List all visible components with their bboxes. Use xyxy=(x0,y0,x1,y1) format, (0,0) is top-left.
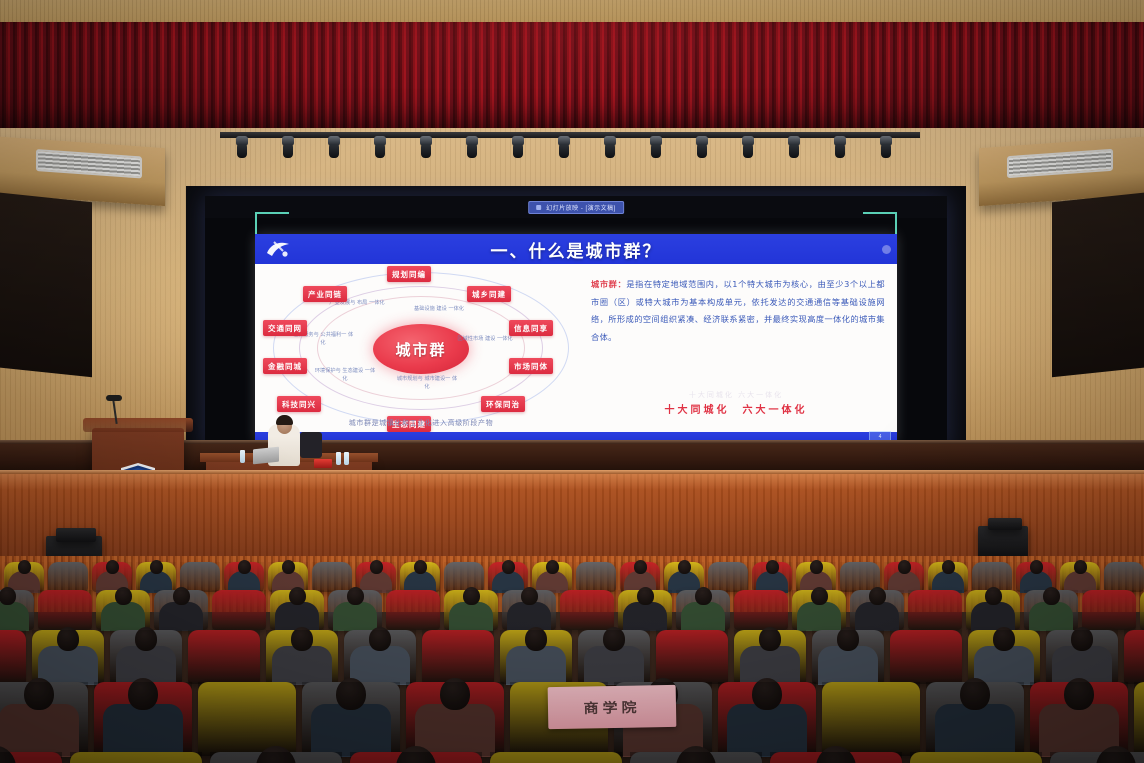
audience-member-head xyxy=(752,678,782,710)
audience-member-head xyxy=(837,627,859,651)
audience-member-head xyxy=(1071,627,1093,651)
stage-lamp-icon xyxy=(788,136,800,158)
audience-member-head xyxy=(502,560,515,574)
audience-member-head xyxy=(24,678,54,710)
diagram-inner-label: 基础设施 建设 一体化 xyxy=(407,306,471,314)
audience-seat xyxy=(212,590,266,630)
audience-member-body xyxy=(623,602,667,631)
powerpoint-icon xyxy=(536,205,541,210)
audience-seat xyxy=(708,562,748,592)
stage-monitor-speaker-top xyxy=(56,528,96,542)
audience-seat xyxy=(734,590,788,630)
audience-member-body xyxy=(971,602,1015,631)
slide-title: 一、什么是城市群？ xyxy=(491,237,662,262)
audience-member-body xyxy=(818,646,877,685)
definition-text-panel: 城市群：是指在特定地域范围内，以1个特大城市为核心，由至少3个以上都市圈（区）或… xyxy=(585,264,897,432)
audience-member-body xyxy=(272,646,331,685)
diagram-badge-left-upper: 交通同网 xyxy=(263,320,307,336)
water-bottle-icon xyxy=(344,452,349,465)
audience-member-head xyxy=(993,627,1015,651)
audience-member-head xyxy=(414,560,427,574)
audience-seat xyxy=(1082,590,1136,630)
audience-member-body xyxy=(584,646,643,685)
stage-monitor-speaker-top xyxy=(988,518,1022,530)
left-dark-panel xyxy=(0,190,92,378)
diagram-caption: 城市群是城镇化和工业化进入高级阶段产物 xyxy=(271,418,571,428)
stage-lamp-icon xyxy=(604,136,616,158)
audience-member-head xyxy=(759,627,781,651)
audience-member-head xyxy=(291,627,313,651)
audience-member-body xyxy=(727,704,807,757)
definition-ghost-line: 十大同城化 六大一体化 xyxy=(585,390,887,400)
stage-lamp-icon xyxy=(328,136,340,158)
audience-member-head xyxy=(525,627,547,651)
audience-member-head xyxy=(115,587,132,605)
stage-lamp-icon xyxy=(834,136,846,158)
audience-member-head xyxy=(603,627,625,651)
stage-lip-glow xyxy=(0,474,1144,490)
auditorium-scene: 幻灯片放映 - [演示文稿] 一、什么是城市群？ 城市群 xyxy=(0,0,1144,763)
audience-member-body xyxy=(311,704,391,757)
audience-member-head xyxy=(18,560,31,574)
audience-member-head xyxy=(811,587,828,605)
audience-member-head xyxy=(173,587,190,605)
audience-member-head xyxy=(634,560,647,574)
audience-member-head xyxy=(1030,560,1043,574)
audience-seat xyxy=(312,562,352,592)
audience-member-body xyxy=(507,602,551,631)
audience-seat xyxy=(38,590,92,630)
stage-lamp-icon xyxy=(374,136,386,158)
stage-lamp-icon xyxy=(466,136,478,158)
audience-member-head xyxy=(546,560,559,574)
audience-member-head xyxy=(238,560,251,574)
audience-member-head xyxy=(942,560,955,574)
audience-seat xyxy=(822,682,920,756)
audience-seat xyxy=(188,630,260,684)
stage-curtain xyxy=(0,22,1144,137)
definition-paragraph: 城市群：是指在特定地域范围内，以1个特大城市为核心，由至少3个以上都市圈（区）或… xyxy=(591,276,885,347)
audience-member-head xyxy=(766,560,779,574)
stage-lamp-icon xyxy=(282,136,294,158)
water-bottle-icon xyxy=(336,452,341,465)
diagram-badge-right-lower: 市场同体 xyxy=(509,358,553,374)
audience-member-head xyxy=(521,587,538,605)
audience-member-head xyxy=(57,627,79,651)
audience-seat xyxy=(386,590,440,630)
audience-seat xyxy=(910,752,1042,763)
audience-member-body xyxy=(974,646,1033,685)
audience-seat xyxy=(490,752,622,763)
audience-member-head xyxy=(369,627,391,651)
slide-body: 城市群 产业发展与 布局 一体化 基础设施 建设 一体化 社会服务与 公共福利一… xyxy=(255,264,897,432)
audience-seat xyxy=(198,682,296,756)
audience-seat xyxy=(1124,630,1144,684)
slide-title-decor xyxy=(882,245,891,254)
city-cluster-diagram: 城市群 产业发展与 布局 一体化 基础设施 建设 一体化 社会服务与 公共福利一… xyxy=(255,264,585,432)
red-cloth-decor xyxy=(314,459,332,468)
laptop-icon xyxy=(253,447,279,465)
slide-title-bar: 一、什么是城市群？ xyxy=(255,234,897,264)
audience-member-body xyxy=(681,602,725,631)
audience-member-body xyxy=(275,602,319,631)
audience-paper-sign: 商学院 xyxy=(548,685,677,729)
audience-member-head xyxy=(810,560,823,574)
audience-member-head xyxy=(1074,560,1087,574)
projection-screen[interactable]: 幻灯片放映 - [演示文稿] 一、什么是城市群？ 城市群 xyxy=(205,196,947,450)
audience-member-head xyxy=(1064,678,1094,710)
audience-member-head xyxy=(289,587,306,605)
stage-lamp-icon xyxy=(236,136,248,158)
audience-sign-text: 商学院 xyxy=(583,697,640,717)
audience-member-head xyxy=(898,560,911,574)
stage-lamp-icon xyxy=(880,136,892,158)
right-dark-panel xyxy=(1052,190,1144,378)
audience-seat xyxy=(656,630,728,684)
audience-seat xyxy=(1104,562,1144,592)
diagram-badge-bottom-right: 环保同治 xyxy=(481,396,525,412)
diagram-badge-top: 规划同编 xyxy=(387,266,431,282)
audience-member-head xyxy=(347,587,364,605)
slide: 一、什么是城市群？ 城市群 产业发展与 布局 一体化 基础设施 建设 一体化 社… xyxy=(255,234,897,442)
audience-member-head xyxy=(637,587,654,605)
swoosh-logo-icon xyxy=(265,239,291,259)
audience-seat xyxy=(576,562,616,592)
water-bottle-icon xyxy=(240,450,245,463)
audience-member-head xyxy=(282,560,295,574)
diagram-inner-label: 区域性市场 建设 一体化 xyxy=(453,336,517,344)
audience-area xyxy=(0,556,1144,763)
audience-seat xyxy=(422,630,494,684)
audience-member-head xyxy=(106,560,119,574)
audience-member-head xyxy=(0,587,16,605)
audience-member-head xyxy=(135,627,157,651)
diagram-badge-top-right: 城乡同建 xyxy=(467,286,511,302)
audience-member-head xyxy=(128,678,158,710)
diagram-core: 城市群 xyxy=(373,324,469,374)
audience-member-body xyxy=(101,602,145,631)
audience-seat xyxy=(0,630,26,684)
podium-top-surface xyxy=(83,418,193,432)
audience-member-body xyxy=(0,704,79,757)
diagram-inner-label: 环境保护与 生态建设 一体化 xyxy=(313,368,377,384)
stage-lamp-icon xyxy=(696,136,708,158)
stage-lamp-icon xyxy=(420,136,432,158)
stage-lamp-icon xyxy=(558,136,570,158)
audience-seat xyxy=(70,752,202,763)
audience-member-body xyxy=(506,646,565,685)
audience-seat xyxy=(560,590,614,630)
audience-member-body xyxy=(855,602,899,631)
audience-member-head xyxy=(960,678,990,710)
definition-body: 是指在特定地域范围内，以1个特大城市为核心，由至少3个以上都市圈（区）或特大城市… xyxy=(591,279,885,342)
audience-member-head xyxy=(150,560,163,574)
audience-seat xyxy=(890,630,962,684)
audience-member-head xyxy=(463,587,480,605)
audience-member-body xyxy=(1029,602,1073,631)
audience-member-head xyxy=(695,587,712,605)
stage-monitor-speaker xyxy=(978,526,1028,558)
audience-member-head xyxy=(1043,587,1060,605)
audience-member-head xyxy=(336,678,366,710)
audience-member-body xyxy=(350,646,409,685)
audience-member-body xyxy=(159,602,203,631)
stage-lamp-icon xyxy=(512,136,524,158)
microphone-icon xyxy=(106,395,122,401)
diagram-badge-left-lower: 金融同城 xyxy=(263,358,307,374)
audience-member-body xyxy=(38,646,97,685)
audience-member-head xyxy=(370,560,383,574)
diagram-badge-top-left: 产业同链 xyxy=(303,286,347,302)
audience-member-head xyxy=(440,678,470,710)
audience-seat xyxy=(444,562,484,592)
chair-back xyxy=(300,432,322,458)
diagram-badge-right-upper: 信息同享 xyxy=(509,320,553,336)
diagram-core-label: 城市群 xyxy=(395,339,446,360)
audience-member-body xyxy=(935,704,1015,757)
audience-member-body xyxy=(103,704,183,757)
audience-member-body xyxy=(797,602,841,631)
audience-member-head xyxy=(985,587,1002,605)
definition-footer-slogan: 十大同城化 六大一体化 xyxy=(585,401,887,416)
air-vent-icon xyxy=(1007,149,1113,178)
audience-member-head xyxy=(869,587,886,605)
audience-member-head xyxy=(678,560,691,574)
audience-member-body xyxy=(333,602,377,631)
audience-member-body xyxy=(449,602,493,631)
audience-seat xyxy=(1140,590,1144,630)
stage-lamp-icon xyxy=(650,136,662,158)
presentation-window-titlebar[interactable]: 幻灯片放映 - [演示文稿] xyxy=(528,201,624,214)
audience-seat xyxy=(908,590,962,630)
stage-lamp-icon xyxy=(742,136,754,158)
air-vent-icon xyxy=(36,149,142,178)
audience-seat xyxy=(1134,682,1144,756)
audience-member-body xyxy=(0,602,29,631)
corner-mark-icon xyxy=(255,212,289,234)
window-title: 幻灯片放映 - [演示文稿] xyxy=(546,203,616,212)
diagram-badge-bottom-left: 科技同兴 xyxy=(277,396,321,412)
diagram-inner-label: 城市规划与 城市建设一 体化 xyxy=(395,376,459,392)
corner-mark-icon xyxy=(863,212,897,234)
presenter-hair xyxy=(276,415,293,425)
definition-keyword: 城市群： xyxy=(591,279,626,289)
audience-seat xyxy=(48,562,88,592)
stage-light-bar xyxy=(220,132,920,138)
